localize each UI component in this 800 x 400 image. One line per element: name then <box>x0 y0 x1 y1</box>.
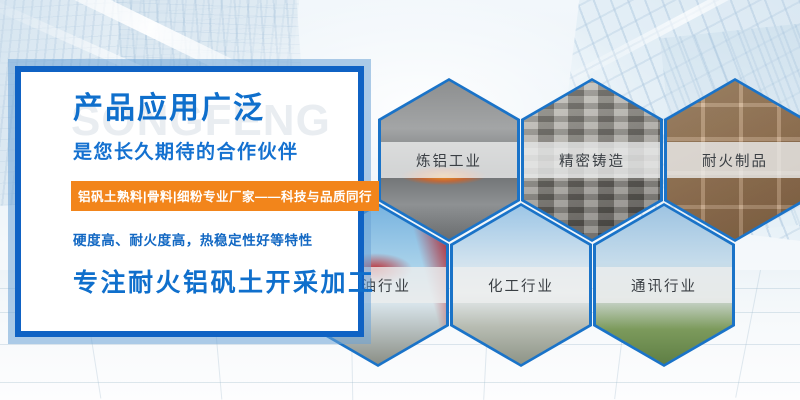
page-title: 产品应用广泛 <box>73 94 358 124</box>
page-subtitle: 是您长久期待的合作伙伴 <box>73 137 358 164</box>
hexagon-inner: 耐火制品 <box>667 81 800 239</box>
hexagon-label: 精密铸造 <box>559 150 625 171</box>
hexagon-label-band: 精密铸造 <box>524 142 660 178</box>
promo-banner: 炼铝工业 精密铸造 耐火制品 <box>0 0 800 400</box>
headline-text: 专注耐火铝矾土开采加工 <box>73 263 358 299</box>
headline-panel-border: SONGFENG 产品应用广泛 是您长久期待的合作伙伴 铝矾土熟料|骨料|细粉专… <box>15 66 364 337</box>
hexagon-label: 耐火制品 <box>702 150 768 171</box>
hexagon-label-band: 耐火制品 <box>667 142 800 178</box>
hexagon-inner: 精密铸造 <box>524 81 660 239</box>
hexagon-label-band: 炼铝工业 <box>381 142 517 178</box>
hexagon-label-band: 通讯行业 <box>596 267 732 303</box>
feature-text: 硬度高、耐火度高，热稳定性好等特性 <box>73 229 358 249</box>
hexagon-inner: 通讯行业 <box>596 206 732 364</box>
hexagon-label-band: 化工行业 <box>453 267 589 303</box>
hexagon-label: 炼铝工业 <box>416 150 482 171</box>
hexagon-label: 通讯行业 <box>631 275 697 296</box>
headline-panel: SONGFENG 产品应用广泛 是您长久期待的合作伙伴 铝矾土熟料|骨料|细粉专… <box>8 59 371 344</box>
hexagon-label: 化工行业 <box>488 275 554 296</box>
hexagon-inner: 化工行业 <box>453 206 589 364</box>
headline-panel-content: SONGFENG 产品应用广泛 是您长久期待的合作伙伴 铝矾土熟料|骨料|细粉专… <box>21 72 358 331</box>
hexagon-inner: 炼铝工业 <box>381 81 517 239</box>
tagline-badge: 铝矾土熟料|骨料|细粉专业厂家——科技与品质同行 <box>71 181 379 211</box>
